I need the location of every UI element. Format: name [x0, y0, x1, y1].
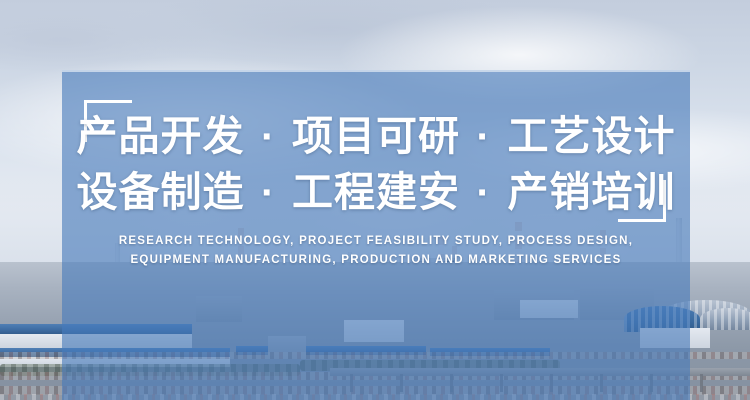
subtitle-text: RESEARCH TECHNOLOGY, PROJECT FEASIBILITY…	[96, 232, 656, 270]
arched-hangar	[700, 308, 750, 330]
text-overlay-panel: 产品开发 · 项目可研 · 工艺设计 设备制造 · 工程建安 · 产销培训 RE…	[62, 70, 690, 400]
headline-line-2: 设备制造 · 工程建安 · 产销培训	[62, 164, 690, 220]
hero-banner: 产品开发 · 项目可研 · 工艺设计 设备制造 · 工程建安 · 产销培训 RE…	[0, 0, 750, 400]
separator-dot: ·	[257, 169, 280, 215]
separator-dot: ·	[257, 113, 280, 159]
separator-dot: ·	[472, 113, 495, 159]
headline-segment: 项目可研	[292, 113, 460, 159]
headline-segment: 产销培训	[507, 169, 675, 215]
headline-block: 产品开发 · 项目可研 · 工艺设计 设备制造 · 工程建安 · 产销培训	[62, 108, 690, 220]
headline-segment: 产品开发	[77, 113, 245, 159]
headline-segment: 工艺设计	[507, 113, 675, 159]
separator-dot: ·	[472, 169, 495, 215]
headline-segment: 工程建安	[292, 169, 460, 215]
headline-segment: 设备制造	[77, 169, 245, 215]
headline-line-1: 产品开发 · 项目可研 · 工艺设计	[62, 108, 690, 164]
